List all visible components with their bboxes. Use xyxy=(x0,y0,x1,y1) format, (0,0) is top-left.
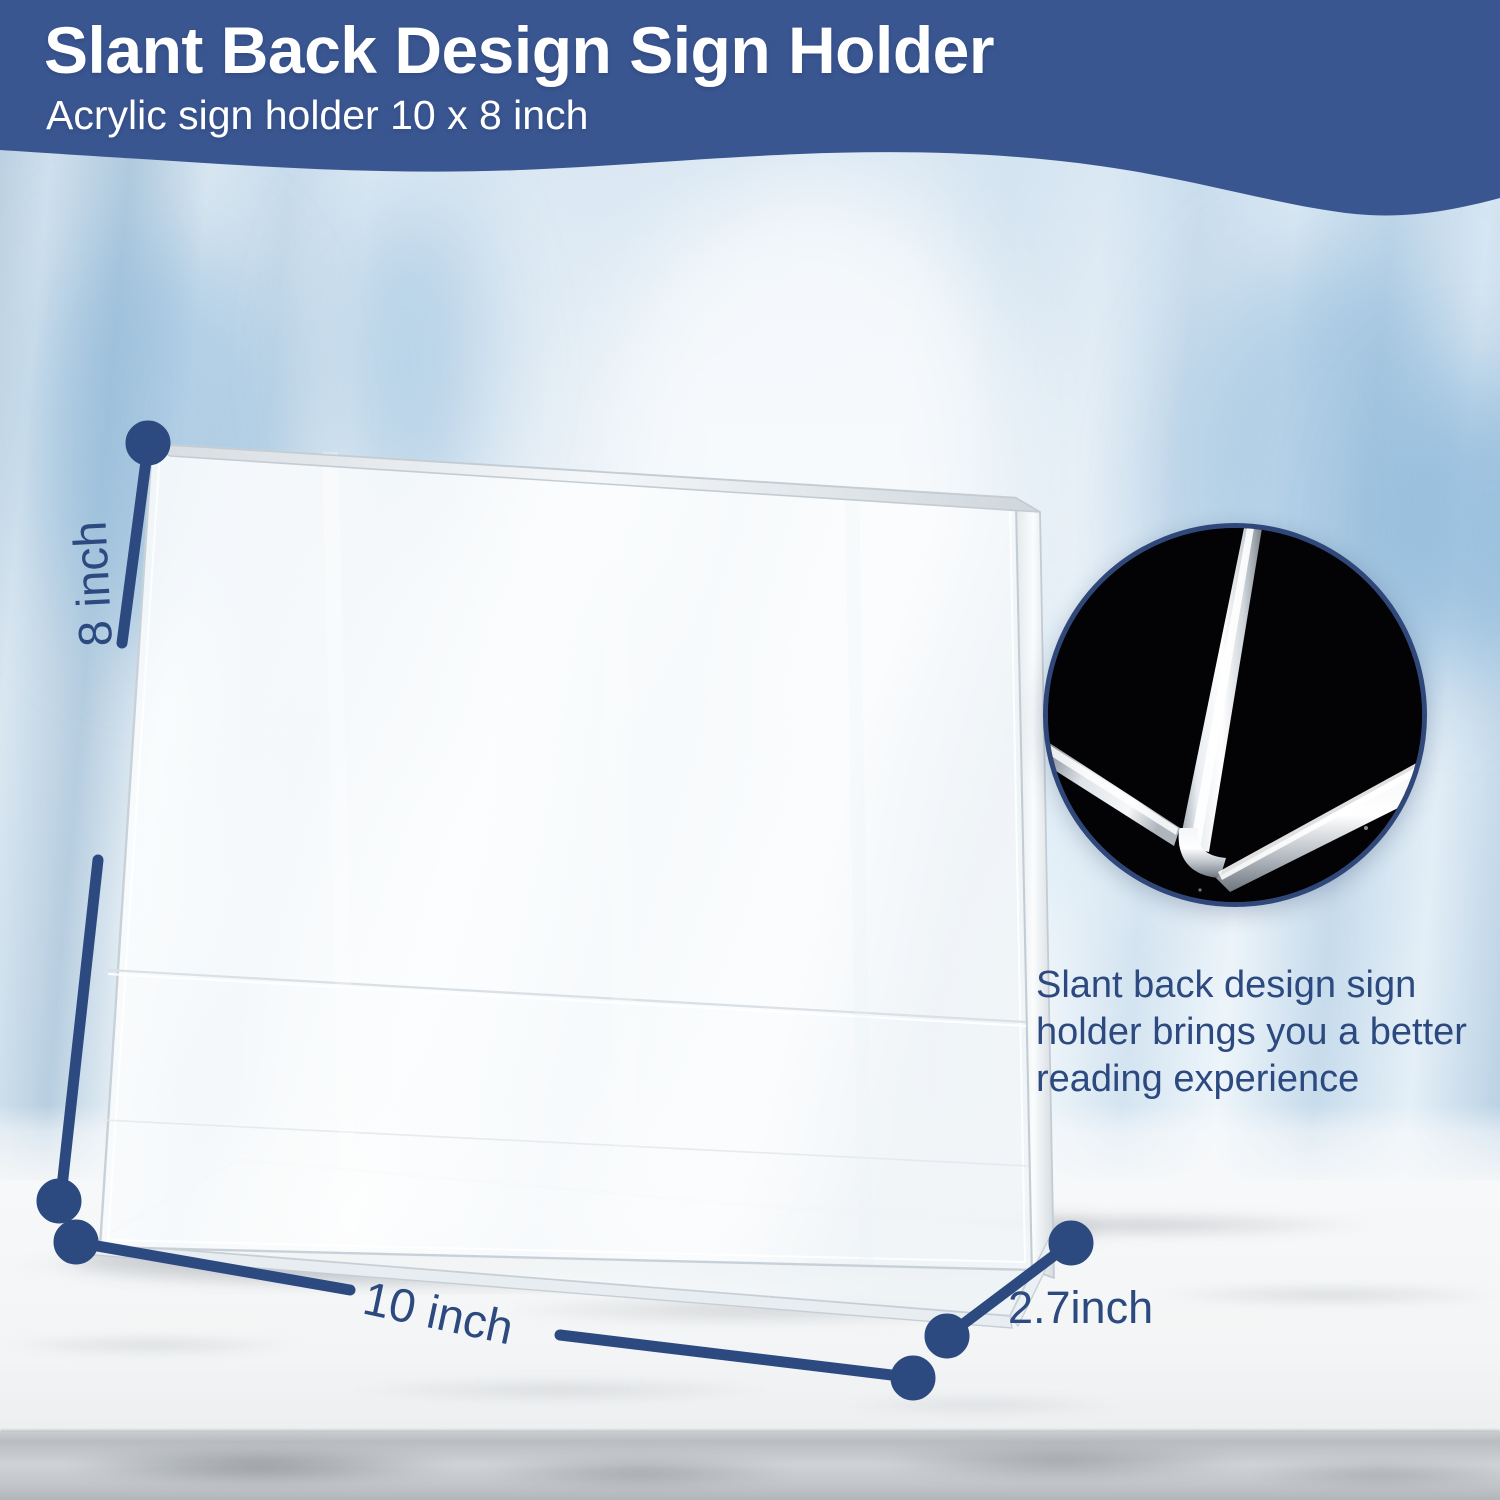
detail-callout-circle xyxy=(1043,523,1427,907)
holder-front-panel xyxy=(100,444,1032,1270)
product-infographic: Slant Back Design Sign Holder Acrylic si… xyxy=(0,0,1500,1500)
dimension-label-height: 8 inch xyxy=(61,520,122,648)
dimension-label-depth: 2.7inch xyxy=(1008,1282,1153,1334)
detail-callout-caption: Slant back design sign holder brings you… xyxy=(1036,962,1496,1103)
page-title: Slant Back Design Sign Holder xyxy=(44,12,994,88)
slant-corner-macro-photo xyxy=(1048,528,1422,902)
page-subtitle: Acrylic sign holder 10 x 8 inch xyxy=(46,92,588,139)
